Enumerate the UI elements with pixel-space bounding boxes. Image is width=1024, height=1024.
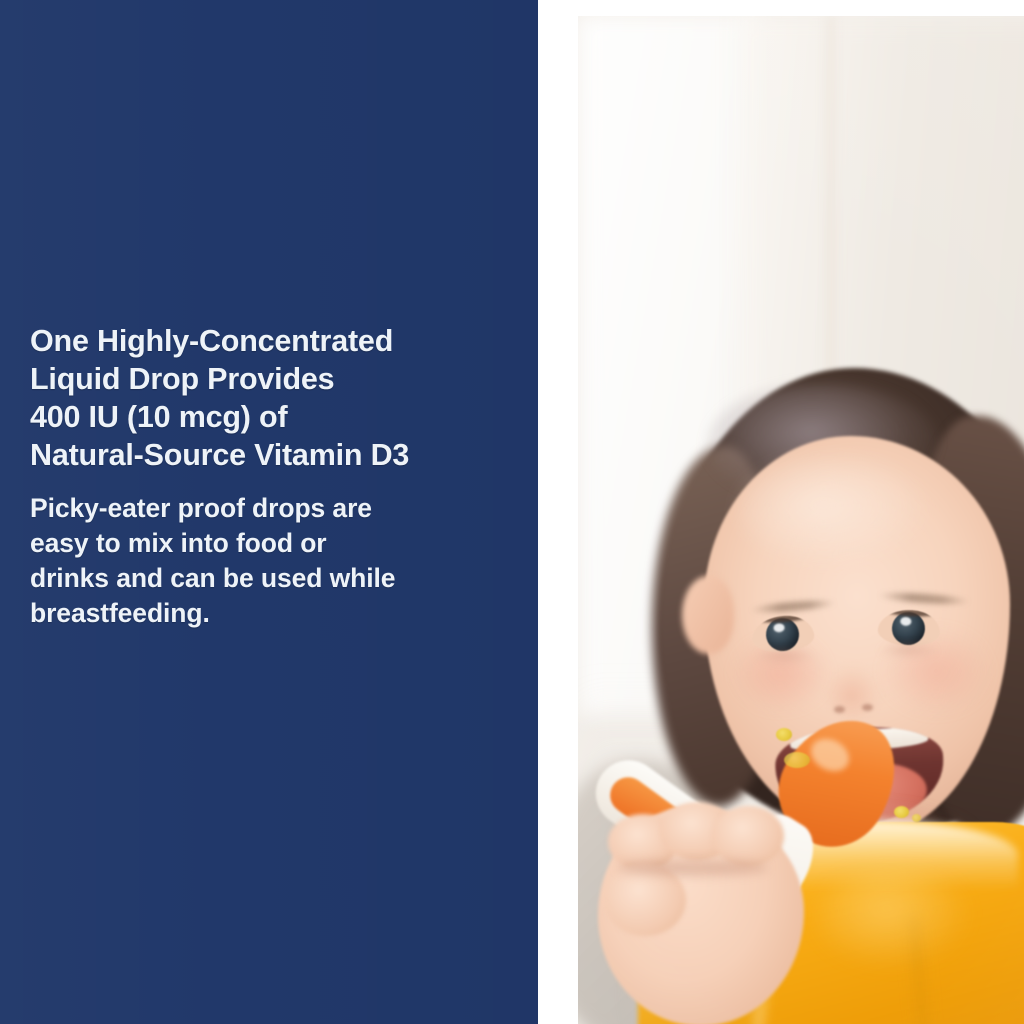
baby-nostril-right [862,704,873,711]
baby-undereye-left [754,650,814,664]
subcopy-line-3: drinks and can be used while [30,561,530,596]
headline-line-4: Natural-Source Vitamin D3 [30,436,530,474]
copy-block: One Highly-Concentrated Liquid Drop Prov… [30,322,530,631]
copy-panel: One Highly-Concentrated Liquid Drop Prov… [0,0,538,1024]
subcopy-line-2: easy to mix into food or [30,526,530,561]
subcopy-line-4: breastfeeding. [30,596,530,631]
headline: One Highly-Concentrated Liquid Drop Prov… [30,322,530,474]
baby-ear [682,576,734,654]
baby-forehead-highlight [738,456,928,566]
baby-undereye-right [878,644,938,658]
yellow-bib-highlight [818,870,968,966]
food-fleck [894,806,909,818]
lifestyle-photo-baby-eating [578,16,1024,1024]
subcopy-line-1: Picky-eater proof drops are [30,491,530,526]
headline-line-3: 400 IU (10 mcg) of [30,398,530,436]
headline-line-2: Liquid Drop Provides [30,360,530,398]
subcopy: Picky-eater proof drops are easy to mix … [30,474,530,631]
baby-finger [712,806,784,866]
baby-nostril-left [834,706,845,713]
food-fleck [776,728,792,741]
food-fleck [784,752,810,768]
product-feature-image: One Highly-Concentrated Liquid Drop Prov… [0,0,1024,1024]
headline-line-1: One Highly-Concentrated [30,322,530,360]
food-fleck [912,814,921,822]
baby-hand-shadow [618,860,768,876]
